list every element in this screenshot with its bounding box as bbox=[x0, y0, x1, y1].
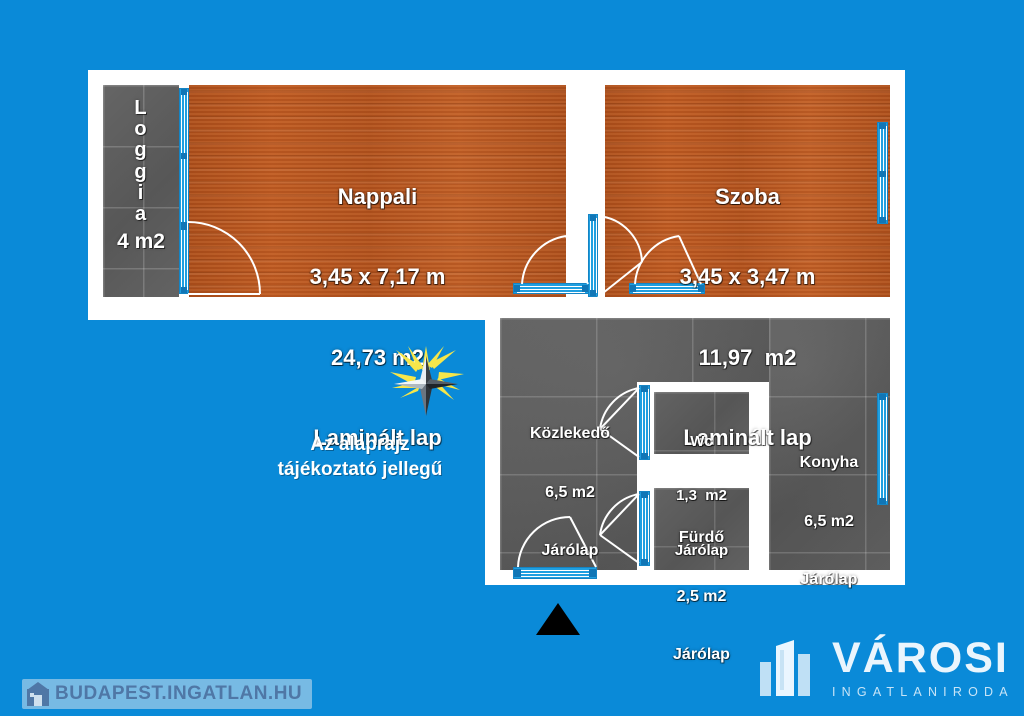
furdo-floor: Járólap bbox=[650, 645, 753, 665]
furdo-area: 2,5 m2 bbox=[650, 587, 753, 607]
loggia-letter-2: o bbox=[103, 119, 179, 140]
room-floor-wc bbox=[654, 392, 749, 454]
brand-logo-varosi[interactable]: VÁROSI INGATLANIRODA bbox=[760, 637, 1014, 699]
loggia-letter-3: g bbox=[103, 140, 179, 161]
watermark-text: BUDAPEST.INGATLAN.HU bbox=[55, 683, 302, 705]
door-szoba-kozlekedo bbox=[629, 283, 705, 294]
room-label-loggia: L o g g i a 4 m2 bbox=[103, 98, 179, 253]
loggia-letter-4: g bbox=[103, 162, 179, 183]
loggia-letter-6: a bbox=[103, 204, 179, 225]
door-furdo bbox=[639, 491, 650, 566]
door-wc bbox=[639, 385, 650, 460]
room-floor-furdo bbox=[654, 488, 749, 570]
disclaimer-line-1: Az alaprajz bbox=[250, 432, 470, 457]
window-konyha-east bbox=[877, 393, 888, 505]
door-nappali-szoba bbox=[588, 214, 598, 297]
window-loggia-nappali bbox=[179, 88, 189, 294]
disclaimer-text: Az alaprajz tájékoztató jellegű bbox=[250, 432, 470, 482]
disclaimer-line-2: tájékoztató jellegű bbox=[250, 457, 470, 482]
brand-name: VÁROSI bbox=[832, 637, 1014, 680]
room-floor-nappali bbox=[189, 85, 566, 297]
window-szoba-east bbox=[877, 122, 888, 224]
house-icon bbox=[27, 682, 49, 706]
compass-rose-icon bbox=[386, 344, 466, 424]
door-nappali-kozlekedo bbox=[513, 283, 589, 294]
partition-nappali-szoba bbox=[566, 85, 605, 297]
loggia-letter-5: i bbox=[103, 183, 179, 204]
entrance-triangle-icon bbox=[536, 603, 580, 635]
room-floor-szoba bbox=[605, 85, 890, 297]
room-floor-konyha bbox=[769, 318, 890, 570]
loggia-letter-1: L bbox=[103, 98, 179, 119]
partition-wc-furdo-right bbox=[749, 382, 769, 570]
watermark-budapest-ingatlan[interactable]: BUDAPEST.INGATLAN.HU bbox=[22, 679, 312, 709]
brand-subtitle: INGATLANIRODA bbox=[832, 686, 1014, 699]
buildings-icon bbox=[760, 640, 818, 696]
floorplan-canvas: L o g g i a 4 m2 Nappali 3,45 x 7,17 m 2… bbox=[0, 0, 1024, 716]
loggia-area: 4 m2 bbox=[103, 231, 179, 253]
door-entrance bbox=[513, 567, 597, 579]
